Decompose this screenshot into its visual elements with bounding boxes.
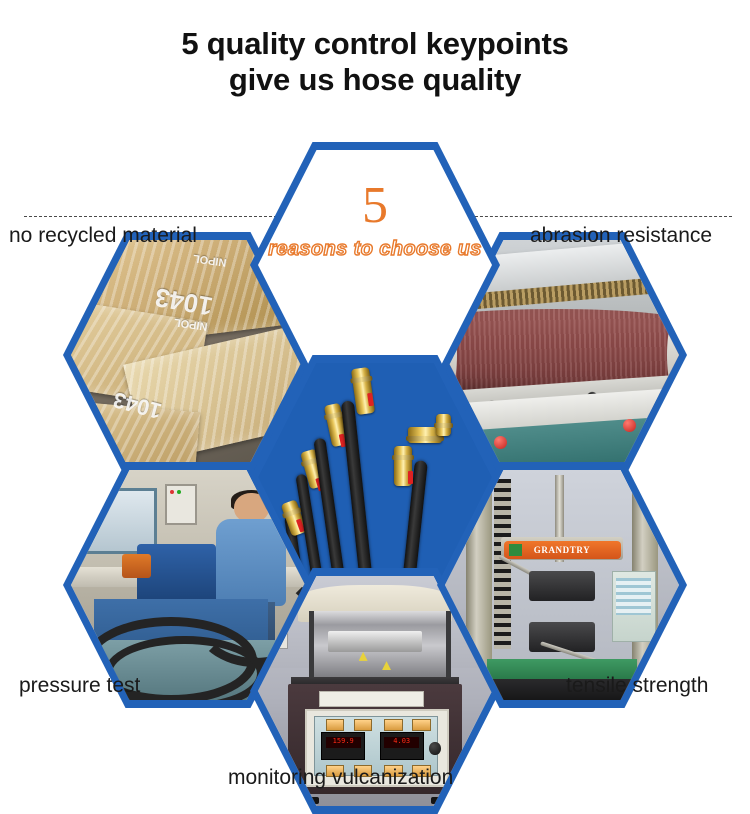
tensile-machine-brand: GRANDTRY (504, 541, 621, 558)
title-line-1: 5 quality control keypoints (181, 26, 568, 61)
hexagon-border: 5 reasons to choose us (250, 142, 500, 388)
hexagon-center-callout: 5 reasons to choose us (250, 142, 500, 388)
hexagon-border: GRANDTRY (437, 462, 687, 708)
hexagon-center-inner: 5 reasons to choose us (258, 150, 492, 380)
label-pressure-test: pressure test (19, 674, 140, 698)
reasons-subtitle: reasons to choose us (258, 238, 492, 260)
dashed-line-top-right (470, 216, 732, 217)
hexagon-tensile-strength[interactable]: GRANDTRY (437, 462, 687, 708)
label-no-recycled-material: no recycled material (9, 224, 197, 248)
photo-tensile-tester: GRANDTRY (445, 470, 679, 700)
rheometer-reading-1: 159.9 (326, 737, 361, 748)
hexagon-image-tensile-strength: GRANDTRY (445, 470, 679, 700)
rheometer-reading-2: 4.03 (384, 737, 419, 748)
title-line-2: give us hose quality (0, 62, 750, 98)
label-abrasion-resistance: abrasion resistance (530, 224, 712, 248)
reasons-count: 5 (258, 180, 492, 232)
tensile-machine-brand-label: GRANDTRY (534, 545, 590, 555)
rheometer-plaque (319, 691, 424, 707)
infographic-canvas: 5 quality control keypoints give us hose… (0, 0, 750, 800)
label-monitoring-vulcanization: monitoring vulcanization (228, 766, 453, 790)
page-title: 5 quality control keypoints give us hose… (0, 26, 750, 98)
label-tensile-strength: tensile strength (566, 674, 708, 698)
